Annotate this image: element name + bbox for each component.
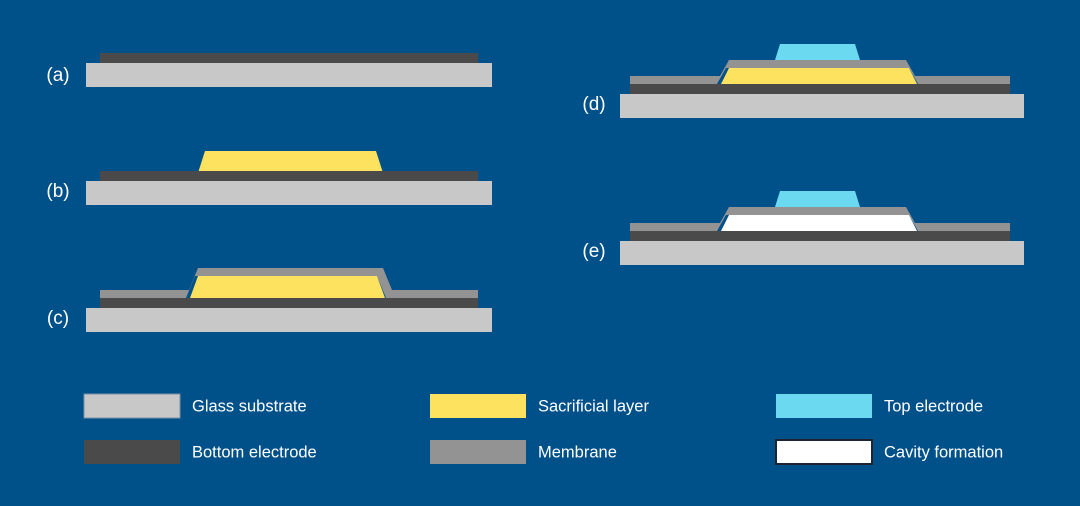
panel-b-glass-substrate [86, 181, 492, 205]
legend-item-bottom-electrode: Bottom electrode [84, 440, 317, 464]
legend-item-sacrificial-layer: Sacrificial layer [430, 394, 649, 418]
panel-b-bottom-electrode [100, 171, 478, 181]
legend-item-membrane: Membrane [430, 440, 617, 464]
process-flow-figure: (a) (b) (c) (d) [0, 0, 1080, 506]
legend-item-cavity-formation: Cavity formation [776, 440, 1003, 464]
panel-e-glass-substrate [620, 241, 1024, 265]
panel-d-label: (d) [582, 94, 605, 115]
process-flow-diagram: (a) (b) (c) (d) [0, 0, 1080, 506]
legend-label-cavity-formation: Cavity formation [884, 443, 1003, 461]
legend-label-top-electrode: Top electrode [884, 397, 983, 415]
legend-item-glass-substrate: Glass substrate [84, 394, 307, 418]
legend-swatch-glass-substrate [84, 394, 180, 418]
panel-b-label: (b) [46, 181, 69, 202]
panel-e-cavity [721, 215, 917, 231]
panel-e-bottom-electrode [630, 231, 1010, 241]
legend-swatch-cavity-formation [776, 440, 872, 464]
panel-d-bottom-electrode [630, 84, 1010, 94]
panel-d-glass-substrate [620, 94, 1024, 118]
legend-swatch-bottom-electrode [84, 440, 180, 464]
panel-c-bottom-electrode [100, 298, 478, 308]
legend-label-membrane: Membrane [538, 443, 617, 461]
panel-c-sacrificial-layer [190, 276, 385, 298]
legend-swatch-sacrificial-layer [430, 394, 526, 418]
panel-c-label: (c) [47, 308, 69, 329]
panel-c-glass-substrate [86, 308, 492, 332]
panel-d-top-electrode [775, 44, 860, 60]
panel-a: (a) [46, 53, 492, 87]
panel-a-label: (a) [46, 65, 69, 86]
panel-e-label: (e) [582, 241, 605, 262]
panel-d-sacrificial-layer [721, 68, 917, 84]
panel-e-top-electrode [775, 191, 860, 207]
legend-label-glass-substrate: Glass substrate [192, 397, 307, 415]
panel-a-bottom-electrode [100, 53, 478, 63]
panel-a-glass-substrate [86, 63, 492, 87]
legend-label-bottom-electrode: Bottom electrode [192, 443, 317, 461]
legend-label-sacrificial-layer: Sacrificial layer [538, 397, 649, 415]
legend-swatch-top-electrode [776, 394, 872, 418]
legend-swatch-membrane [430, 440, 526, 464]
